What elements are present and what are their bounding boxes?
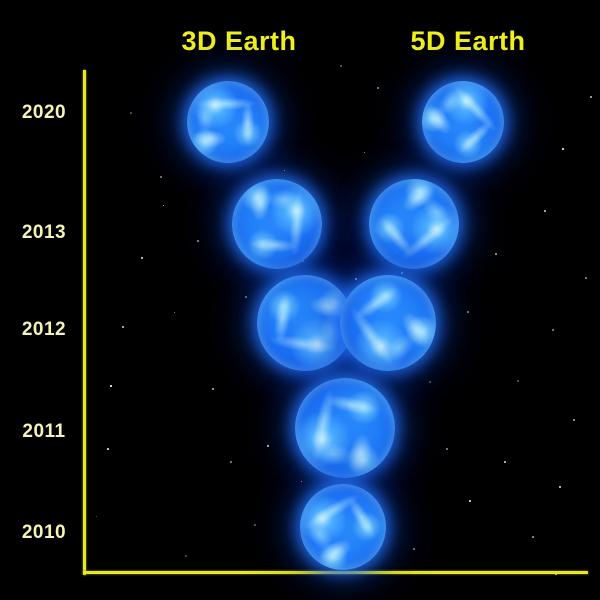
star xyxy=(573,419,574,420)
column-header-3d-earth: 3D Earth xyxy=(181,26,296,57)
star xyxy=(174,312,175,313)
globe-2011-merged xyxy=(286,369,405,488)
star xyxy=(212,388,213,389)
year-label-2013: 2013 xyxy=(22,222,66,244)
globe-2020-3d xyxy=(187,81,269,163)
star xyxy=(110,385,111,386)
star xyxy=(532,536,534,538)
year-label-2012: 2012 xyxy=(22,319,66,341)
star xyxy=(284,170,285,171)
star xyxy=(340,65,341,66)
star xyxy=(197,240,199,242)
star xyxy=(495,253,496,254)
figure-canvas: 3D Earth 5D Earth 2020 2013 2012 2011 20… xyxy=(0,0,600,600)
globe-2013-5d xyxy=(351,161,478,288)
year-label-2010: 2010 xyxy=(22,522,66,544)
column-header-5d-earth: 5D Earth xyxy=(410,26,525,57)
year-label-2011: 2011 xyxy=(22,421,65,443)
star xyxy=(517,380,518,381)
star xyxy=(585,277,586,278)
star xyxy=(364,152,365,153)
star xyxy=(230,461,231,462)
star xyxy=(401,272,402,273)
star xyxy=(163,205,164,206)
star xyxy=(559,486,560,487)
y-axis-line xyxy=(83,70,86,575)
globe-2012-5d xyxy=(321,256,455,390)
star xyxy=(130,112,132,114)
globe-2020-5d xyxy=(405,64,521,180)
star xyxy=(562,148,563,149)
year-label-2020: 2020 xyxy=(22,102,66,124)
star xyxy=(122,326,123,327)
star xyxy=(107,448,109,450)
star xyxy=(185,555,187,557)
star xyxy=(413,548,414,549)
star xyxy=(267,445,268,446)
star xyxy=(141,257,142,258)
star xyxy=(245,296,246,297)
star xyxy=(544,210,546,212)
star xyxy=(254,524,255,525)
star xyxy=(446,448,447,449)
globe-2013-3d xyxy=(229,176,325,272)
star xyxy=(355,278,356,279)
star xyxy=(96,516,97,517)
star xyxy=(552,329,553,330)
star xyxy=(469,500,471,502)
star xyxy=(504,461,505,462)
star xyxy=(429,381,431,383)
star xyxy=(377,87,378,88)
x-axis-line xyxy=(83,571,588,574)
globe-2010-merged xyxy=(284,468,402,586)
star xyxy=(590,96,591,97)
star xyxy=(467,311,468,312)
star xyxy=(160,176,161,177)
star xyxy=(301,481,302,482)
